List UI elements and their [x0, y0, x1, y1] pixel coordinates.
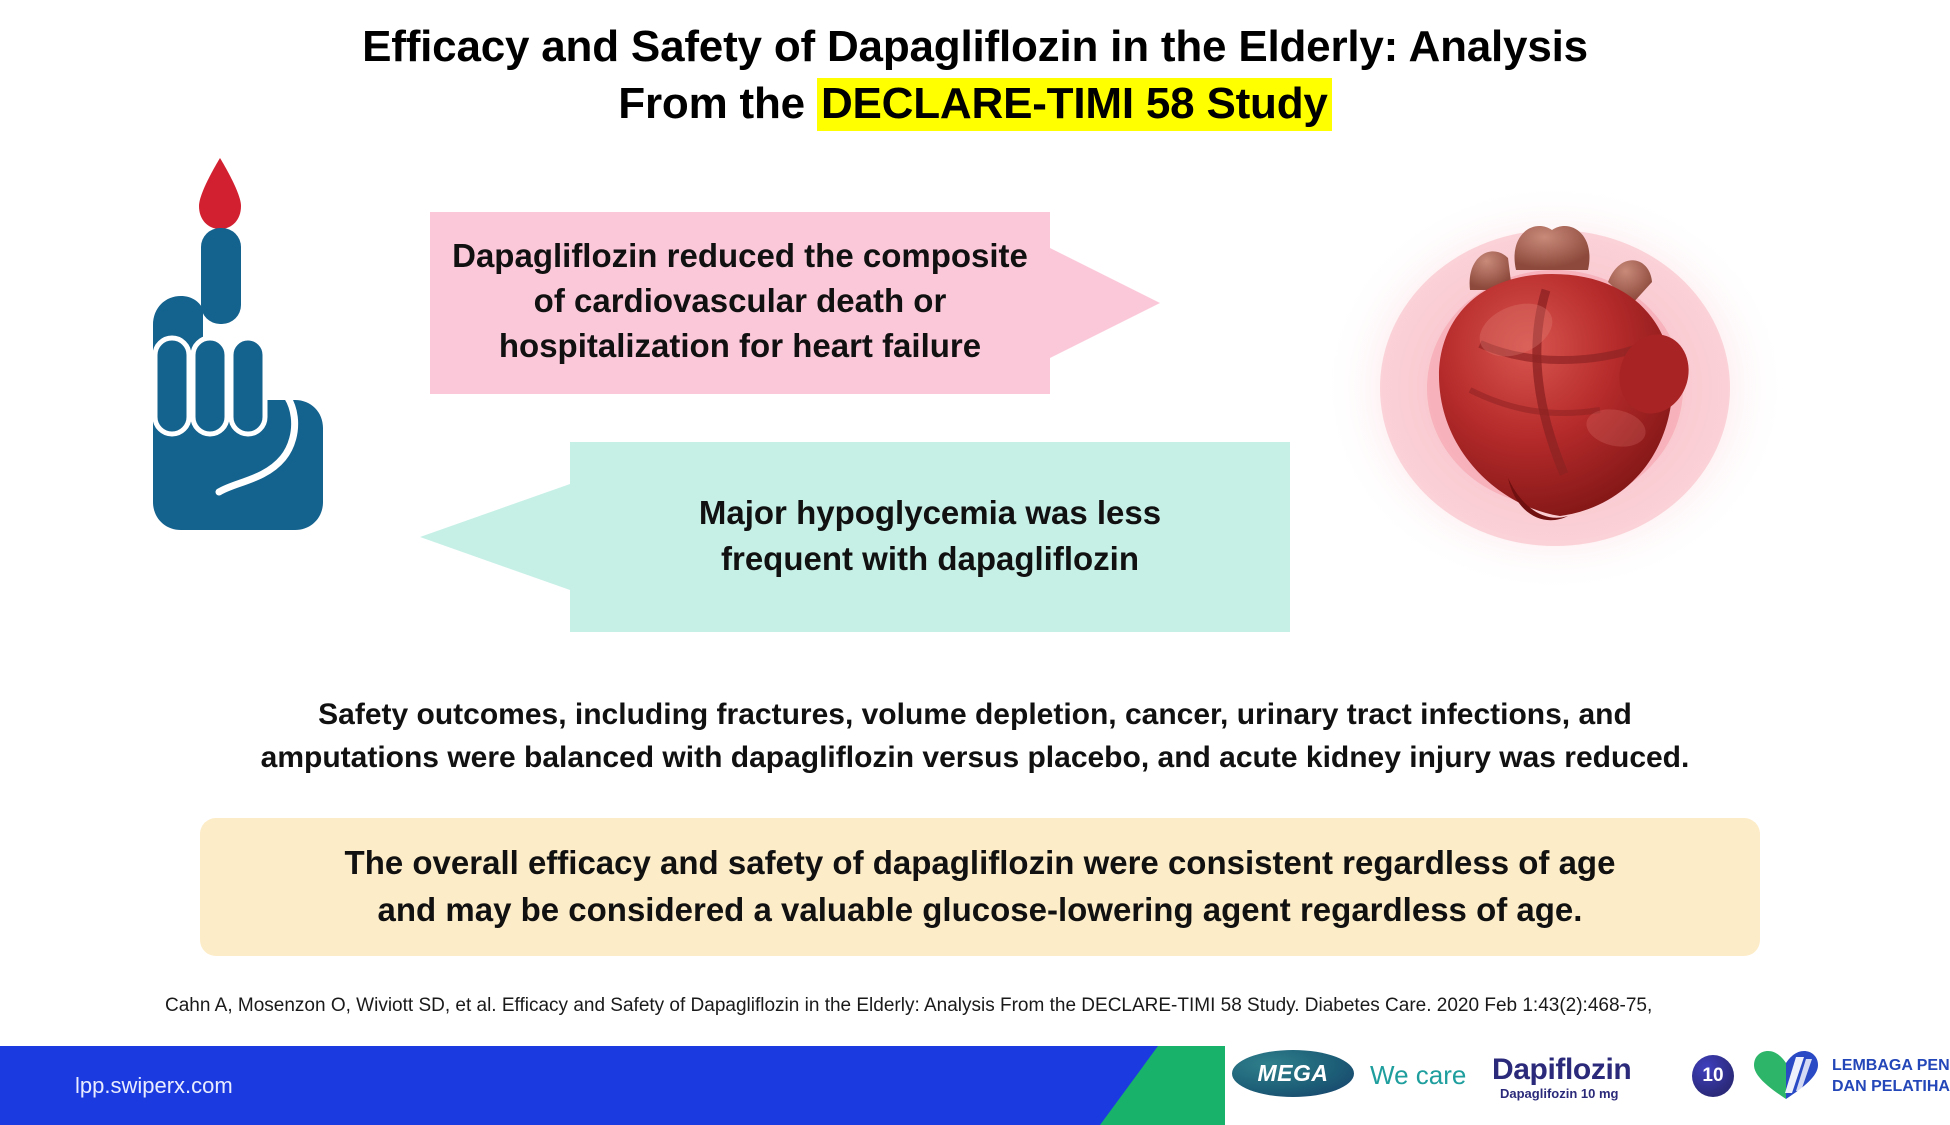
safety-line-2: amputations were balanced with dapaglifl… — [0, 737, 1950, 780]
we-care-tagline: We care — [1370, 1060, 1466, 1091]
conclusion-line-2: and may be considered a valuable glucose… — [345, 887, 1616, 934]
title-line-2: From the DECLARE-TIMI 58 Study — [0, 75, 1950, 132]
pink-line-3: hospitalization for heart failure — [440, 324, 1040, 369]
callout-pink-cardiovascular: Dapagliflozin reduced the composite of c… — [430, 212, 1160, 394]
dose-badge: 10 — [1692, 1055, 1734, 1097]
footer-bar: lpp.swiperx.com — [0, 1046, 1950, 1125]
conclusion-line-1: The overall efficacy and safety of dapag… — [345, 840, 1616, 887]
pink-line-1: Dapagliflozin reduced the composite — [440, 234, 1040, 279]
teal-line-2: frequent with dapagliflozin — [580, 536, 1280, 582]
citation-reference: Cahn A, Mosenzon O, Wiviott SD, et al. E… — [165, 995, 1865, 1017]
mega-logo: MEGA — [1232, 1050, 1354, 1097]
dapiflozin-brand-subtitle: Dapaglifozin 10 mg — [1500, 1086, 1618, 1101]
lpp-logo-text: LEMBAGA PENDIDIKAN DAN PELATIHAN SWIPERX — [1832, 1056, 1950, 1098]
lpp-logo-line-2: DAN PELATIHAN SWIPERX — [1832, 1077, 1950, 1098]
callout-teal-hypoglycemia: Major hypoglycemia was less frequent wit… — [420, 442, 1290, 632]
anatomical-heart-image — [1320, 178, 1790, 598]
dapiflozin-brand-name: Dapiflozin — [1492, 1053, 1631, 1087]
footer-website-url[interactable]: lpp.swiperx.com — [75, 1073, 233, 1099]
title-line-2-prefix: From the — [618, 79, 817, 128]
title-line-1: Efficacy and Safety of Dapagliflozin in … — [0, 18, 1950, 75]
teal-callout-text: Major hypoglycemia was less frequent wit… — [580, 490, 1280, 581]
page-title: Efficacy and Safety of Dapagliflozin in … — [0, 18, 1950, 132]
safety-line-1: Safety outcomes, including fractures, vo… — [0, 694, 1950, 737]
conclusion-text: The overall efficacy and safety of dapag… — [321, 840, 1640, 934]
pink-line-2: of cardiovascular death or — [440, 279, 1040, 324]
pink-callout-text: Dapagliflozin reduced the composite of c… — [440, 234, 1040, 369]
safety-outcomes-text: Safety outcomes, including fractures, vo… — [0, 694, 1950, 779]
lpp-logo-line-1: LEMBAGA PENDIDIKAN — [1832, 1056, 1950, 1077]
mega-logo-label: MEGA — [1232, 1050, 1354, 1097]
hand-pointing-finger-icon — [95, 150, 345, 530]
title-highlight: DECLARE-TIMI 58 Study — [817, 78, 1332, 131]
teal-line-1: Major hypoglycemia was less — [580, 490, 1280, 536]
lpp-heart-logo-icon — [1752, 1049, 1824, 1101]
conclusion-box: The overall efficacy and safety of dapag… — [200, 818, 1760, 956]
